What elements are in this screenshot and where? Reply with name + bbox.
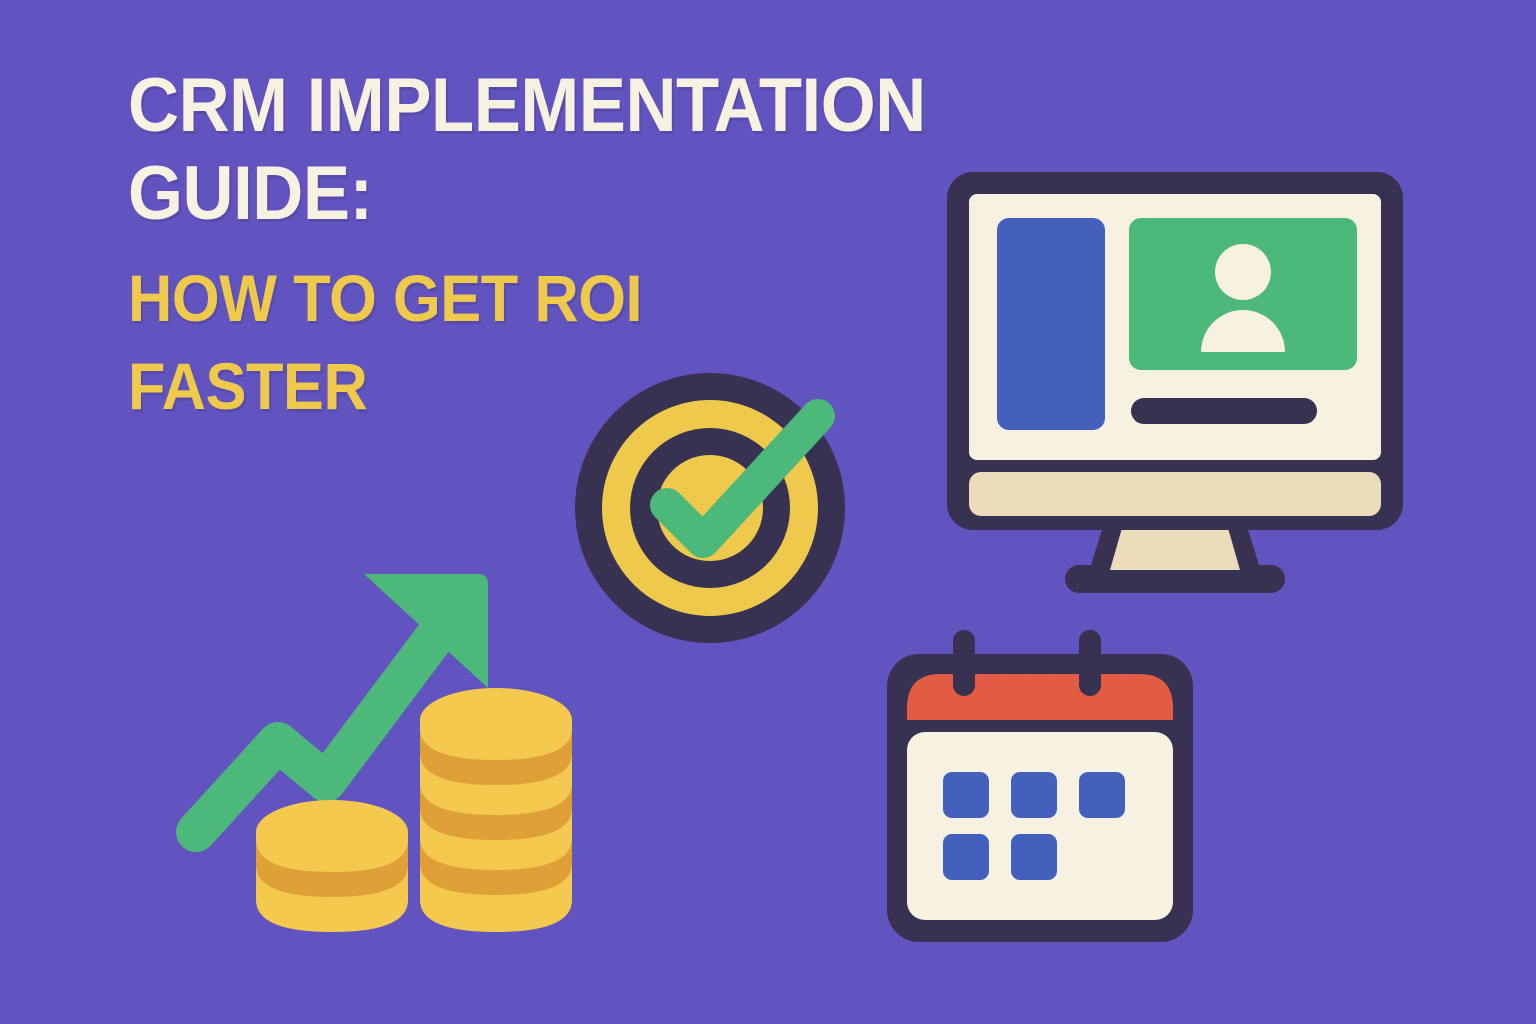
growth-arrow-and-coins-icon	[178, 560, 588, 960]
calendar-date-square	[1011, 834, 1057, 880]
calendar-date-square	[1011, 772, 1057, 818]
calendar-icon	[865, 620, 1215, 955]
page-subtitle: HOW TO GET ROI FASTER	[128, 254, 1068, 430]
subhead-line-1: HOW TO GET ROI	[128, 254, 1002, 342]
dashboard-text-bar	[1131, 398, 1317, 424]
calendar-date-square	[1079, 772, 1125, 818]
short-coin-stack-icon	[256, 800, 408, 932]
calendar-body	[907, 732, 1173, 920]
monitor-lower-band	[969, 472, 1381, 516]
calendar-date-square	[943, 834, 989, 880]
headline-line-2: GUIDE:	[128, 150, 1002, 238]
title-block: CRM IMPLEMENTATION GUIDE: HOW TO GET ROI…	[128, 62, 1068, 430]
tall-coin-stack-icon	[420, 688, 572, 932]
page-title: CRM IMPLEMENTATION GUIDE:	[128, 62, 1068, 238]
banner-canvas: CRM IMPLEMENTATION GUIDE: HOW TO GET ROI…	[0, 0, 1536, 1024]
subhead-line-2: FASTER	[128, 342, 1002, 430]
headline-line-1: CRM IMPLEMENTATION	[128, 62, 1002, 150]
calendar-header-band	[907, 674, 1173, 720]
calendar-date-square	[943, 772, 989, 818]
